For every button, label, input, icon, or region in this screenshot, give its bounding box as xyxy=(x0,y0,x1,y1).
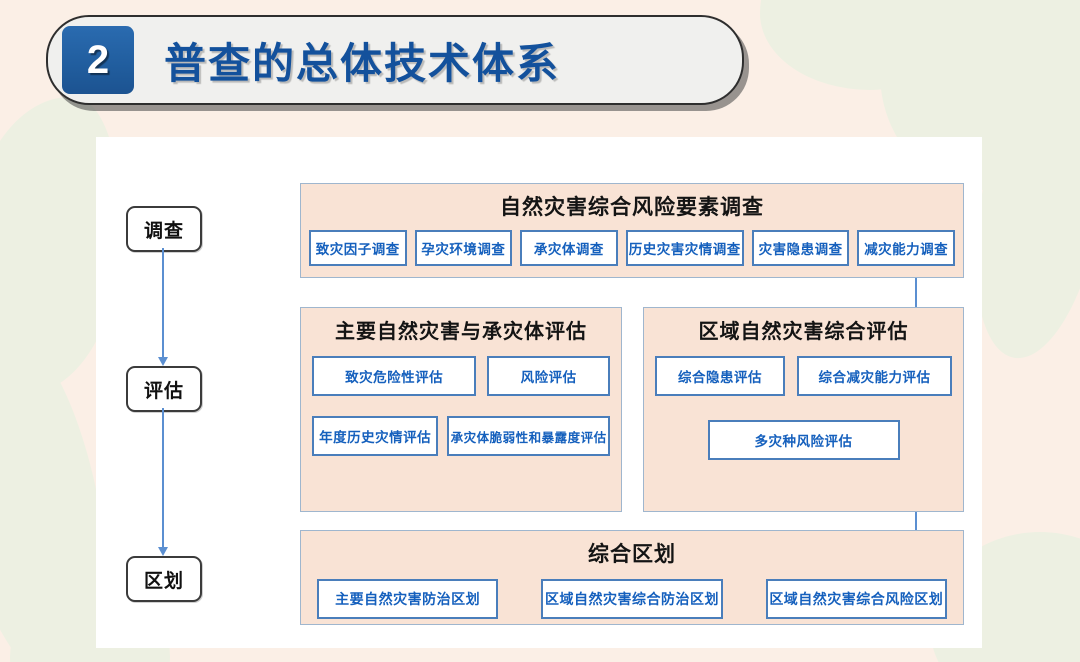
group-panel-survey: 自然灾害综合风险要素调查 致灾因子调查 孕灾环境调查 承灾体调查 历史灾害灾情调… xyxy=(300,183,964,278)
leaf-box-assessment-region-item[interactable]: 综合减灾能力评估 xyxy=(797,356,952,396)
group-title-survey: 自然灾害综合风险要素调查 xyxy=(301,191,963,221)
leaf-box-survey-item[interactable]: 致灾因子调查 xyxy=(309,230,407,266)
leaf-box-survey-item[interactable]: 孕灾环境调查 xyxy=(415,230,513,266)
stage-chip-label: 评估 xyxy=(144,376,184,403)
group-title-zoning: 综合区划 xyxy=(301,538,963,568)
leaf-box-survey-item[interactable]: 历史灾害灾情调查 xyxy=(626,230,744,266)
group-panel-assessment-region: 区域自然灾害综合评估 综合隐患评估 综合减灾能力评估 多灾种风险评估 xyxy=(643,307,964,512)
leaf-box-assessment-main-item[interactable]: 年度历史灾情评估 xyxy=(312,416,438,456)
title-banner: 2 普查的总体技术体系 xyxy=(46,15,744,105)
leaf-box-zoning-item[interactable]: 区域自然灾害综合防治区划 xyxy=(541,579,722,619)
page-title: 普查的总体技术体系 xyxy=(164,30,560,91)
stage-chip-zoning[interactable]: 区划 xyxy=(126,556,202,602)
left-connector-survey-to-assessment xyxy=(162,248,164,357)
stage-chip-assessment[interactable]: 评估 xyxy=(126,366,202,412)
group-panel-assessment-main: 主要自然灾害与承灾体评估 致灾危险性评估 风险评估 年度历史灾情评估 承灾体脆弱… xyxy=(300,307,622,512)
group-title-assessment-main: 主要自然灾害与承灾体评估 xyxy=(301,315,621,344)
stage-chip-label: 区划 xyxy=(144,566,184,593)
leaf-box-assessment-region-item[interactable]: 多灾种风险评估 xyxy=(708,420,900,460)
leaf-box-assessment-main-item[interactable]: 风险评估 xyxy=(487,356,610,396)
group-title-assessment-region: 区域自然灾害综合评估 xyxy=(644,315,963,344)
group-panel-zoning: 综合区划 主要自然灾害防治区划 区域自然灾害综合防治区划 区域自然灾害综合风险区… xyxy=(300,530,964,625)
leaf-box-assessment-main-item[interactable]: 致灾危险性评估 xyxy=(312,356,476,396)
step-number-badge: 2 xyxy=(62,26,134,94)
left-connector-assessment-to-zoning xyxy=(162,408,164,547)
leaf-box-assessment-region-item[interactable]: 综合隐患评估 xyxy=(655,356,785,396)
leaf-box-assessment-main-item[interactable]: 承灾体脆弱性和暴露度评估 xyxy=(447,416,610,456)
leaf-box-survey-item[interactable]: 灾害隐患调查 xyxy=(752,230,850,266)
leaf-box-survey-item[interactable]: 减灾能力调查 xyxy=(857,230,955,266)
leaf-box-zoning-item[interactable]: 主要自然灾害防治区划 xyxy=(317,579,498,619)
leaf-box-zoning-item[interactable]: 区域自然灾害综合风险区划 xyxy=(766,579,947,619)
leaf-box-survey-item[interactable]: 承灾体调查 xyxy=(520,230,618,266)
stage-chip-survey[interactable]: 调查 xyxy=(126,206,202,252)
stage-chip-label: 调查 xyxy=(144,216,184,243)
